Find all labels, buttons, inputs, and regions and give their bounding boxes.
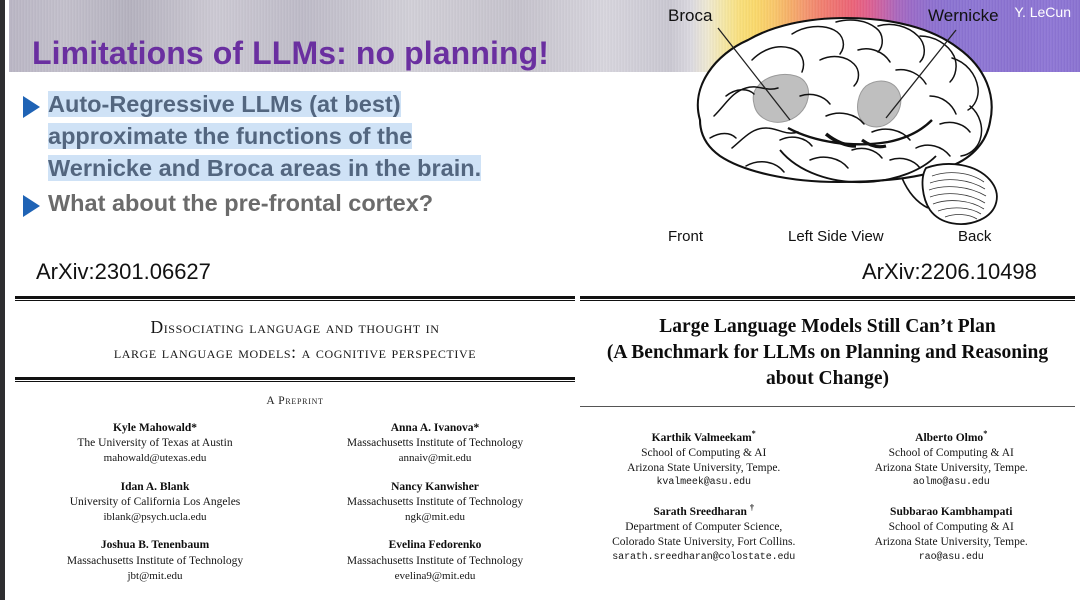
author-block: Joshua B. Tenenbaum Massachusetts Instit… [15, 538, 295, 583]
bullet-text-primary: Auto-Regressive LLMs (at best) approxima… [48, 88, 481, 185]
author-affiliation: Arizona State University, Tempe. [580, 461, 828, 476]
preprint-label: A Preprint [15, 395, 575, 407]
list-item: What about the pre-frontal cortex? [14, 187, 634, 219]
author-name: Subbarao Kambhampati [828, 503, 1076, 520]
divider [580, 296, 1075, 301]
author-email: rao@asu.edu [828, 551, 1076, 564]
author-affiliation: Arizona State University, Tempe. [828, 535, 1076, 550]
author-email: jbt@mit.edu [15, 569, 295, 584]
list-item: Auto-Regressive LLMs (at best) approxima… [14, 88, 634, 185]
bullet-line: approximate the functions of the [48, 123, 412, 149]
bullet-text-secondary: What about the pre-frontal cortex? [48, 187, 433, 219]
page-title: Limitations of LLMs: no planning! [32, 35, 549, 72]
author-grid-left: Kyle Mahowald* The University of Texas a… [15, 421, 575, 598]
author-block: Sarath Sreedharan † Department of Comput… [580, 503, 828, 564]
author-block: Alberto Olmo* School of Computing & AI A… [828, 429, 1076, 490]
caption-front: Front [668, 228, 703, 245]
author-email: mahowald@utexas.edu [15, 451, 295, 466]
bullet-list: Auto-Regressive LLMs (at best) approxima… [14, 88, 634, 221]
author-column: Karthik Valmeekam* School of Computing &… [580, 429, 828, 578]
author-name-text: Subbarao Kambhampati [890, 506, 1012, 518]
paper-title-right: Large Language Models Still Can’t Plan (… [588, 314, 1067, 392]
author-email: annaiv@mit.edu [295, 451, 575, 466]
paper-title-left: Dissociating language and thought in lar… [33, 315, 557, 365]
author-affiliation: Massachusetts Institute of Technology [295, 495, 575, 510]
presentation-slide: Limitations of LLMs: no planning! Y. LeC… [0, 0, 1080, 600]
arxiv-id-right: ArXiv:2206.10498 [862, 259, 1037, 285]
author-block: Evelina Fedorenko Massachusetts Institut… [295, 538, 575, 583]
paper-title-line: about Change) [766, 368, 889, 389]
author-affiliation: Massachusetts Institute of Technology [295, 436, 575, 451]
paper-card-right: Large Language Models Still Can’t Plan (… [580, 296, 1075, 600]
author-affiliation: The University of Texas at Austin [15, 436, 295, 451]
author-email: aolmo@asu.edu [828, 476, 1076, 489]
arxiv-id-left: ArXiv:2301.06627 [36, 259, 211, 285]
caption-back: Back [958, 228, 991, 245]
author-name-text: Sarath Sreedharan [654, 506, 747, 518]
paper-title-line: Dissociating language and thought in [150, 317, 439, 337]
broca-label: Broca [668, 6, 712, 26]
cerebrum-outline [698, 18, 992, 182]
wernicke-label: Wernicke [928, 6, 999, 26]
author-grid-right: Karthik Valmeekam* School of Computing &… [580, 429, 1075, 578]
divider [15, 377, 575, 382]
author-name: Sarath Sreedharan † [580, 503, 828, 520]
author-affiliation: Massachusetts Institute of Technology [15, 554, 295, 569]
triangle-bullet-icon [14, 187, 48, 217]
author-block: Idan A. Blank University of California L… [15, 480, 295, 525]
author-marker: * [752, 429, 756, 438]
author-name: Joshua B. Tenenbaum [15, 538, 295, 553]
author-name-text: Alberto Olmo [915, 432, 983, 444]
brain-diagram: Broca Wernicke [640, 0, 1080, 255]
paper-title-line: large language models: a cognitive persp… [114, 342, 476, 362]
divider [15, 296, 575, 301]
author-column: Anna A. Ivanova* Massachusetts Institute… [295, 421, 575, 598]
author-affiliation: School of Computing & AI [828, 520, 1076, 535]
author-credit: Y. LeCun [1014, 4, 1071, 20]
author-email: sarath.sreedharan@colostate.edu [580, 551, 828, 564]
author-name: Idan A. Blank [15, 480, 295, 495]
author-email: kvalmeek@asu.edu [580, 476, 828, 489]
author-name: Evelina Fedorenko [295, 538, 575, 553]
author-affiliation: Arizona State University, Tempe. [828, 461, 1076, 476]
author-affiliation: School of Computing & AI [580, 446, 828, 461]
author-block: Karthik Valmeekam* School of Computing &… [580, 429, 828, 490]
caption-left-side-view: Left Side View [788, 228, 884, 245]
triangle-bullet-icon [14, 88, 48, 118]
divider [580, 406, 1075, 407]
author-affiliation: School of Computing & AI [828, 446, 1076, 461]
slide-left-edge [0, 0, 9, 600]
author-name: Alberto Olmo* [828, 429, 1076, 446]
author-email: evelina9@mit.edu [295, 569, 575, 584]
author-name-text: Karthik Valmeekam [652, 432, 752, 444]
author-affiliation: University of California Los Angeles [15, 495, 295, 510]
author-marker: * [983, 429, 987, 438]
author-name: Anna A. Ivanova* [295, 421, 575, 436]
author-email: iblank@psych.ucla.edu [15, 510, 295, 525]
author-affiliation: Massachusetts Institute of Technology [295, 554, 575, 569]
paper-card-left: Dissociating language and thought in lar… [15, 296, 575, 600]
author-email: ngk@mit.edu [295, 510, 575, 525]
author-block: Anna A. Ivanova* Massachusetts Institute… [295, 421, 575, 466]
bullet-line: Wernicke and Broca areas in the brain. [48, 155, 481, 181]
author-block: Subbarao Kambhampati School of Computing… [828, 503, 1076, 564]
author-affiliation: Colorado State University, Fort Collins. [580, 535, 828, 550]
author-column: Kyle Mahowald* The University of Texas a… [15, 421, 295, 598]
author-block: Kyle Mahowald* The University of Texas a… [15, 421, 295, 466]
author-name: Karthik Valmeekam* [580, 429, 828, 446]
paper-title-line: (A Benchmark for LLMs on Planning and Re… [607, 342, 1048, 363]
author-affiliation: Department of Computer Science, [580, 520, 828, 535]
author-marker: † [750, 503, 754, 512]
author-name: Nancy Kanwisher [295, 480, 575, 495]
author-block: Nancy Kanwisher Massachusetts Institute … [295, 480, 575, 525]
bullet-line: Auto-Regressive LLMs (at best) [48, 91, 401, 117]
author-column: Alberto Olmo* School of Computing & AI A… [828, 429, 1076, 578]
paper-title-line: Large Language Models Still Can’t Plan [659, 316, 995, 337]
author-name: Kyle Mahowald* [15, 421, 295, 436]
